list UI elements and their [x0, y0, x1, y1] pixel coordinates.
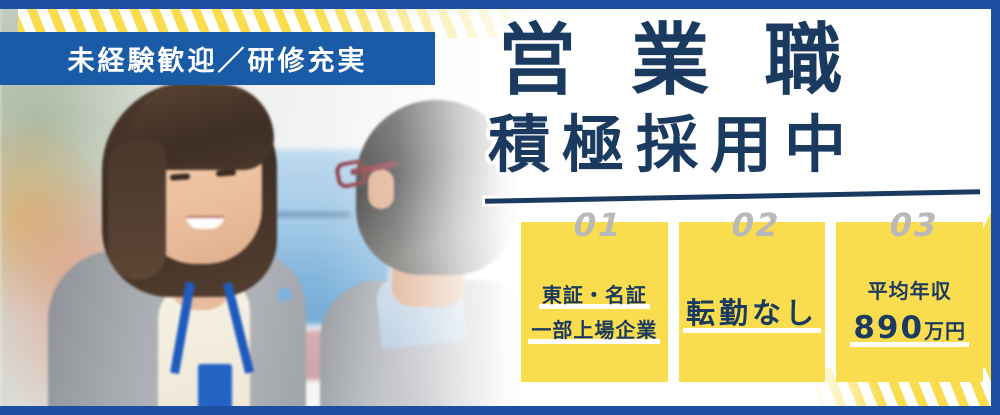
feature-03-text: 平均年収 890 万円 — [850, 275, 969, 347]
feature-box-list: 01 東証・名証 一部上場企業 02 転勤なし 03 平均年収 890 万円 — [521, 222, 983, 382]
job-title-heading: 営 業 職 — [498, 22, 856, 100]
feature-box-02: 02 転勤なし — [679, 222, 826, 382]
feature-box-01: 01 東証・名証 一部上場企業 — [521, 222, 668, 382]
salary-value: 890 — [853, 310, 924, 346]
border-right — [991, 0, 1000, 415]
recruiting-subheading: 積極採用中 — [488, 114, 858, 176]
feature-box-03: 03 平均年収 890 万円 — [836, 222, 983, 382]
headline-underline — [485, 189, 980, 204]
feature-01-text: 東証・名証 一部上場企業 — [528, 279, 660, 344]
feature-01-line-2: 一部上場企業 — [528, 314, 660, 344]
feature-03-amount: 890 万円 — [850, 310, 969, 347]
tagline-text: 未経験歓迎／研修充実 — [68, 39, 368, 78]
feature-02-line-1: 転勤なし — [683, 290, 821, 333]
headline-block: 営 業 職 積極採用中 — [488, 22, 988, 207]
salary-unit: 万円 — [924, 315, 966, 344]
feature-number-02: 02 — [727, 206, 784, 244]
tagline-ribbon: 未経験歓迎／研修充実 — [0, 32, 435, 85]
border-bottom — [0, 406, 1000, 415]
feature-02-text: 転勤なし — [683, 290, 821, 333]
feature-number-01: 01 — [570, 206, 627, 244]
recruitment-banner: 未経験歓迎／研修充実 営 業 職 積極採用中 01 東証・名証 一部上場企業 0… — [0, 0, 1000, 415]
feature-number-03: 03 — [885, 206, 942, 244]
feature-01-line-1: 東証・名証 — [539, 279, 650, 309]
border-top — [0, 0, 1000, 9]
feature-03-label: 平均年収 — [865, 275, 955, 305]
